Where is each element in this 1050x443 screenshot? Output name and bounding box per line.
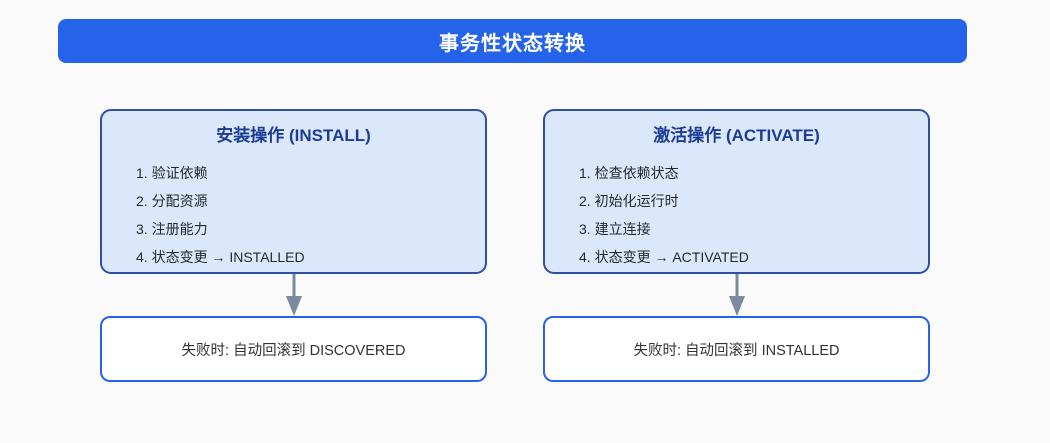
operation-step: 1. 验证依赖	[136, 159, 463, 187]
operation-step: 4. 状态变更 → ACTIVATED	[579, 243, 906, 271]
connector-install	[100, 274, 487, 316]
diagram-title: 事务性状态转换	[439, 27, 586, 56]
operation-card-activate: 激活操作 (ACTIVATE) 1. 检查依赖状态 2. 初始化运行时 3. 建…	[543, 109, 930, 274]
operation-step: 4. 状态变更 → INSTALLED	[136, 243, 463, 271]
diagram-title-bar: 事务性状态转换	[58, 19, 967, 63]
rollback-box-activate: 失败时: 自动回滚到 INSTALLED	[543, 316, 930, 382]
operation-step: 2. 分配资源	[136, 187, 463, 215]
operation-card-title-activate: 激活操作 (ACTIVATE)	[567, 125, 906, 147]
operation-steps-activate: 1. 检查依赖状态 2. 初始化运行时 3. 建立连接 4. 状态变更 → AC…	[567, 159, 906, 271]
rollback-box-install: 失败时: 自动回滚到 DISCOVERED	[100, 316, 487, 382]
operation-step: 1. 检查依赖状态	[579, 159, 906, 187]
rollback-text: 失败时: 自动回滚到 DISCOVERED	[182, 339, 406, 360]
operation-steps-install: 1. 验证依赖 2. 分配资源 3. 注册能力 4. 状态变更 → INSTAL…	[124, 159, 463, 271]
down-arrow-icon	[727, 274, 747, 316]
operation-card-install: 安装操作 (INSTALL) 1. 验证依赖 2. 分配资源 3. 注册能力 4…	[100, 109, 487, 274]
operation-step: 2. 初始化运行时	[579, 187, 906, 215]
column-install: 安装操作 (INSTALL) 1. 验证依赖 2. 分配资源 3. 注册能力 4…	[100, 109, 487, 382]
connector-activate	[543, 274, 930, 316]
diagram-canvas: 事务性状态转换 安装操作 (INSTALL) 1. 验证依赖 2. 分配资源 3…	[0, 0, 1050, 443]
rollback-text: 失败时: 自动回滚到 INSTALLED	[634, 339, 840, 360]
operation-step: 3. 注册能力	[136, 215, 463, 243]
operation-card-title-install: 安装操作 (INSTALL)	[124, 125, 463, 147]
down-arrow-icon	[284, 274, 304, 316]
column-activate: 激活操作 (ACTIVATE) 1. 检查依赖状态 2. 初始化运行时 3. 建…	[543, 109, 930, 382]
operation-step: 3. 建立连接	[579, 215, 906, 243]
